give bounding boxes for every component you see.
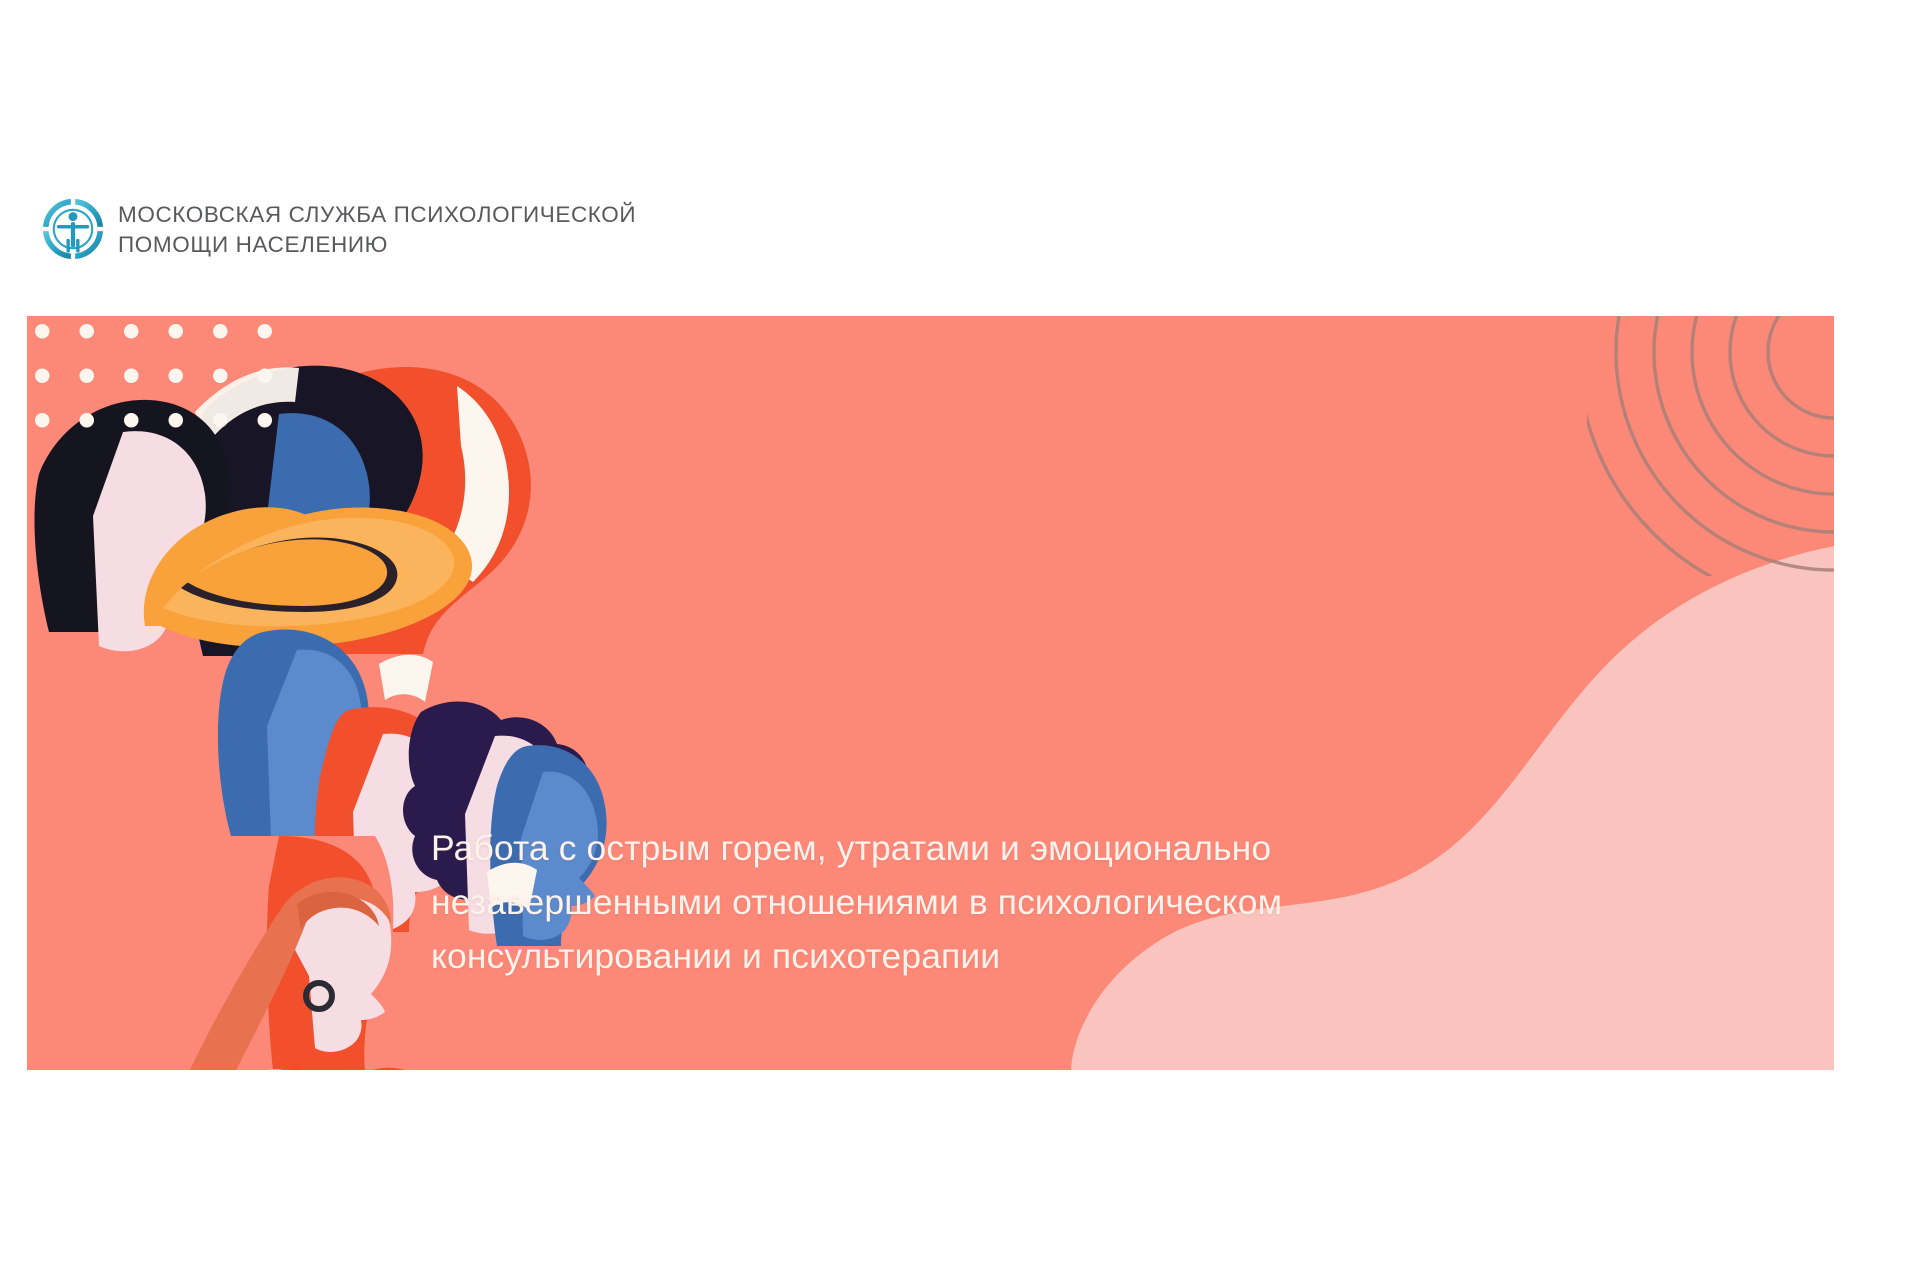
organization-line-1: МОСКОВСКАЯ СЛУЖБА ПСИХОЛОГИЧЕСКОЙ [118,200,636,230]
msph-emblem-icon [42,198,104,260]
organization-line-2: ПОМОЩИ НАСЕЛЕНИЮ [118,230,636,260]
banner-title-line-1: Работа с острым горем, утратами и эмоцио… [431,822,1611,876]
organization-logo-block: МОСКОВСКАЯ СЛУЖБА ПСИХОЛОГИЧЕСКОЙ ПОМОЩИ… [42,196,636,260]
banner-title-line-3: консультировании и психотерапии [431,930,1611,984]
pink-blob-shape [1071,546,1834,1070]
event-banner: Работа с острым горем, утратами и эмоцио… [27,316,1834,1070]
banner-title: Работа с острым горем, утратами и эмоцио… [431,822,1611,984]
organization-name: МОСКОВСКАЯ СЛУЖБА ПСИХОЛОГИЧЕСКОЙ ПОМОЩИ… [118,200,636,260]
banner-title-line-2: незавершенными отношениями в психологиче… [431,876,1611,930]
slide-page: МОСКОВСКАЯ СЛУЖБА ПСИХОЛОГИЧЕСКОЙ ПОМОЩИ… [0,0,1920,1280]
